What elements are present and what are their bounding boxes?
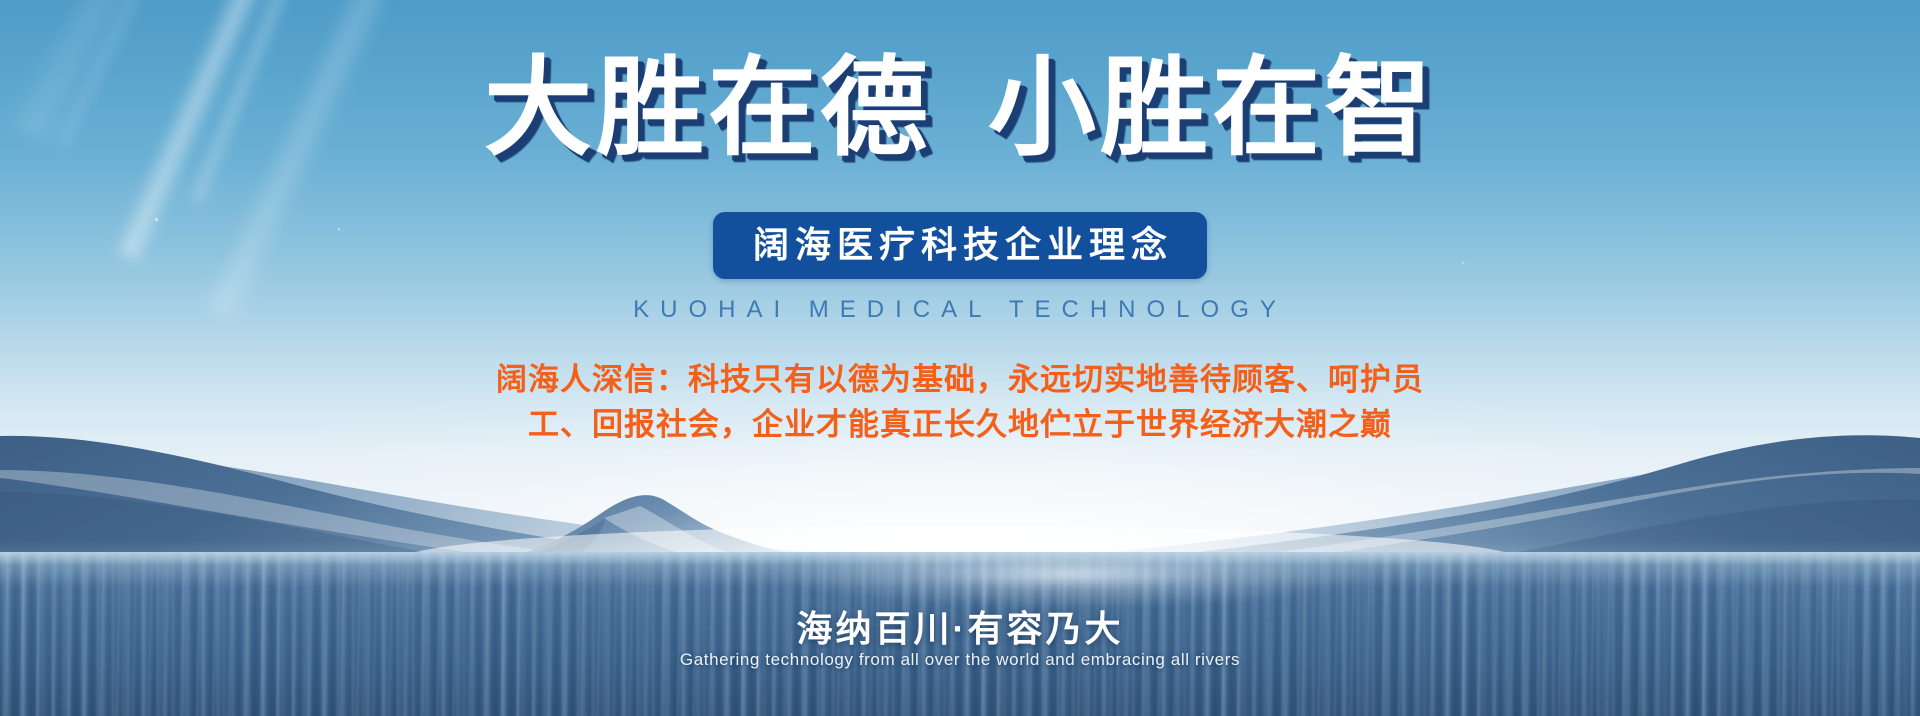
motto-english: Gathering technology from all over the w… [0,650,1920,670]
philosophy-statement: 阔海人深信：科技只有以德为基础，永远切实地善待顾客、呵护员 工、回报社会，企业才… [0,358,1920,448]
headline-right: 小胜在智 [988,47,1436,168]
subtitle-english: KUOHAI MEDICAL TECHNOLOGY [0,296,1920,324]
statement-line-2: 工、回报社会，企业才能真正长久地伫立于世界经济大潮之巅 [0,403,1920,448]
company-philosophy-banner: 大胜在德小胜在智 阔海医疗科技企业理念 KUOHAI MEDICAL TECHN… [0,0,1920,716]
badge-container: 阔海医疗科技企业理念 [0,212,1920,279]
philosophy-badge: 阔海医疗科技企业理念 [713,212,1207,279]
statement-line-1: 阔海人深信：科技只有以德为基础，永远切实地善待顾客、呵护员 [0,358,1920,403]
headline-left: 大胜在德 [484,47,932,168]
motto-chinese: 海纳百川·有容乃大 [0,600,1920,652]
headline: 大胜在德小胜在智 [0,48,1920,169]
banner-content: 大胜在德小胜在智 阔海医疗科技企业理念 KUOHAI MEDICAL TECHN… [0,0,1920,716]
